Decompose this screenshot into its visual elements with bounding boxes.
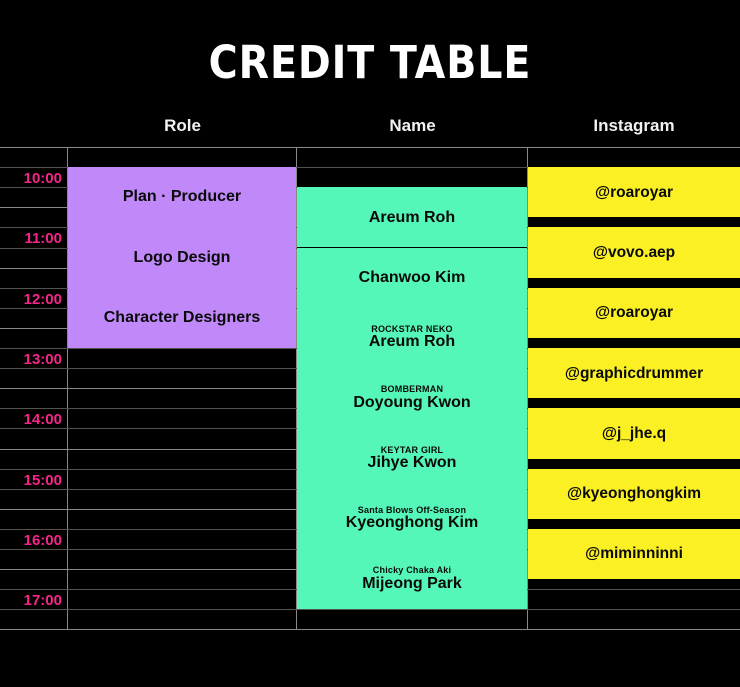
instagram-event-6[interactable]: @miminninni xyxy=(528,529,740,579)
instagram-event-2[interactable]: @roaroyar xyxy=(528,288,740,338)
time-label: 12:00 xyxy=(0,292,62,307)
grid-hline xyxy=(0,147,740,148)
role-event-2[interactable]: Character Designers xyxy=(68,288,296,348)
event-label: Character Designers xyxy=(104,309,261,327)
event-label: @miminninni xyxy=(585,545,683,562)
time-label: 16:00 xyxy=(0,533,62,548)
event-label: @kyeonghongkim xyxy=(567,485,701,502)
name-event-3[interactable]: BOMBERMANDoyoung Kwon xyxy=(297,368,527,428)
role-event-0[interactable]: Plan · Producer xyxy=(68,167,296,227)
time-label: 15:00 xyxy=(0,473,62,488)
time-label: 11:00 xyxy=(0,231,62,246)
event-label: @graphicdrummer xyxy=(565,365,703,382)
instagram-event-4[interactable]: @j_jhe.q xyxy=(528,408,740,458)
event-label: Plan · Producer xyxy=(123,188,241,206)
page-title: CREDIT TABLE xyxy=(44,40,695,85)
event-label: Logo Design xyxy=(134,249,231,267)
time-label: 10:00 xyxy=(0,171,62,186)
event-label: Mijeong Park xyxy=(362,575,462,593)
name-event-6[interactable]: Chicky Chaka AkiMijeong Park xyxy=(297,549,527,609)
name-event-0[interactable]: Areum Roh xyxy=(297,187,527,247)
instagram-event-1[interactable]: @vovo.aep xyxy=(528,227,740,277)
event-label: Kyeonghong Kim xyxy=(346,514,478,532)
event-label: Areum Roh xyxy=(369,209,455,227)
time-label: 14:00 xyxy=(0,412,62,427)
event-label: Doyoung Kwon xyxy=(353,394,470,412)
role-event-1[interactable]: Logo Design xyxy=(68,227,296,287)
column-header-name: Name xyxy=(297,116,528,136)
time-label: 13:00 xyxy=(0,352,62,367)
instagram-event-0[interactable]: @roaroyar xyxy=(528,167,740,217)
name-event-2[interactable]: ROCKSTAR NEKOAreum Roh xyxy=(297,308,527,368)
grid-hline xyxy=(0,629,740,630)
name-event-5[interactable]: Santa Blows Off-SeasonKyeonghong Kim xyxy=(297,489,527,549)
instagram-event-3[interactable]: @graphicdrummer xyxy=(528,348,740,398)
column-header-instagram: Instagram xyxy=(528,116,740,136)
event-label: @roaroyar xyxy=(595,184,673,201)
instagram-event-5[interactable]: @kyeonghongkim xyxy=(528,469,740,519)
event-label: Jihye Kwon xyxy=(368,454,457,472)
event-label: @roaroyar xyxy=(595,304,673,321)
event-label: Areum Roh xyxy=(369,333,455,351)
name-event-1[interactable]: Chanwoo Kim xyxy=(297,248,527,308)
time-label: 17:00 xyxy=(0,593,62,608)
event-label: Chanwoo Kim xyxy=(359,269,466,287)
credit-table-page: CREDIT TABLE Role Name Instagram 10:0011… xyxy=(0,0,740,687)
column-header-role: Role xyxy=(68,116,297,136)
name-event-4[interactable]: KEYTAR GIRLJihye Kwon xyxy=(297,428,527,488)
event-label: @vovo.aep xyxy=(593,244,675,261)
event-label: @j_jhe.q xyxy=(602,425,666,442)
